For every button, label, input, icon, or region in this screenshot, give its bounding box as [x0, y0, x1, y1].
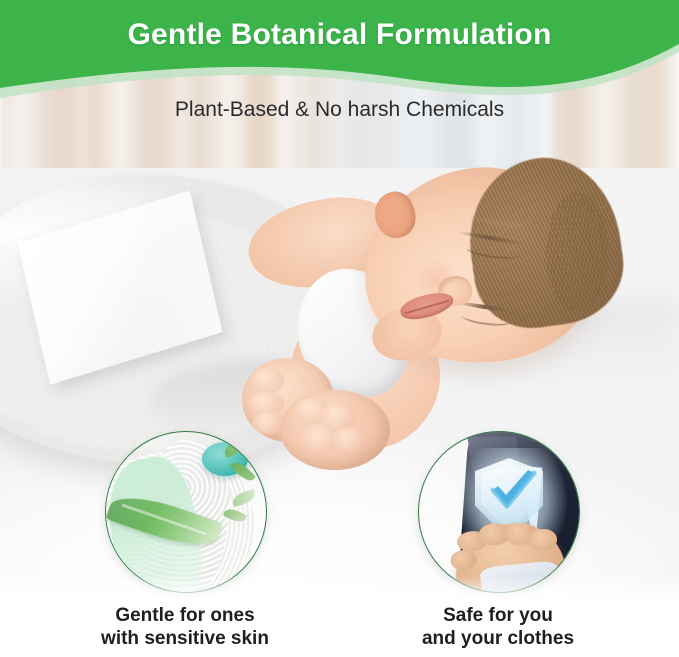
caption-line-2: and your clothes — [348, 627, 648, 650]
caption-safe-clothes: Safe for you and your clothes — [348, 604, 648, 650]
page-subtitle: Plant-Based & No harsh Chemicals — [0, 98, 679, 122]
caption-gentle-skin: Gentle for ones with sensitive skin — [35, 604, 335, 650]
feature-image-gentle-skin — [105, 431, 267, 593]
feature-image-safe-clothes — [418, 431, 580, 593]
sleeping-baby — [320, 140, 679, 460]
baby-hand-lower — [280, 390, 390, 470]
header-banner: Gentle Botanical Formulation Plant-Based… — [0, 0, 679, 120]
product-feature-poster: Gentle Botanical Formulation Plant-Based… — [0, 0, 679, 657]
baby-hair-wisp — [546, 192, 608, 312]
caption-line-1: Safe for you — [443, 605, 553, 626]
caption-line-2: with sensitive skin — [35, 627, 335, 650]
page-title: Gentle Botanical Formulation — [0, 18, 679, 52]
check-mark-icon — [487, 468, 539, 518]
caption-line-1: Gentle for ones — [115, 605, 254, 626]
